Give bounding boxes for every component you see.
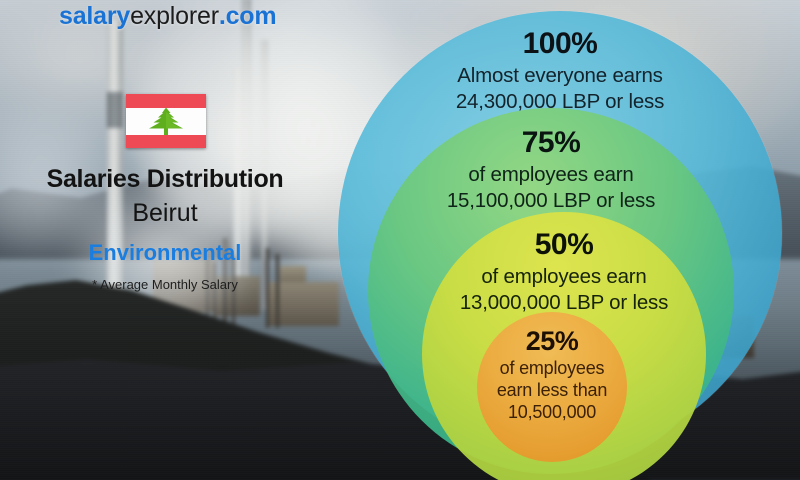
logo-text-domain: .com xyxy=(219,2,277,30)
percentile-line1-100: Almost everyone earns xyxy=(338,64,782,88)
lebanon-flag-icon xyxy=(126,94,206,148)
percentile-line1-75: of employees earn xyxy=(368,163,734,187)
percentile-label-100: 100% Almost everyone earns 24,300,000 LB… xyxy=(338,27,782,113)
percentile-line1-50: of employees earn xyxy=(422,265,706,289)
cedar-tree-icon xyxy=(145,107,187,136)
percentile-line2-75: 15,100,000 LBP or less xyxy=(368,189,734,213)
percentile-line3-25: 10,500,000 xyxy=(477,402,627,423)
heading-block: Salaries Distribution Beirut Environment… xyxy=(0,165,330,292)
percentile-label-25: 25% of employees earn less than 10,500,0… xyxy=(477,326,627,423)
flag-stripe-bottom xyxy=(126,135,206,149)
smokestack-band xyxy=(107,92,123,128)
percentile-label-75: 75% of employees earn 15,100,000 LBP or … xyxy=(368,126,734,212)
infographic-canvas: salaryexplorer.com Salaries Distribution… xyxy=(0,0,800,480)
flag-stripe-top xyxy=(126,94,206,108)
percentile-value-25: 25% xyxy=(477,326,627,357)
percentile-value-100: 100% xyxy=(338,27,782,62)
percentile-circle-25[interactable]: 25% of employees earn less than 10,500,0… xyxy=(477,312,627,462)
salary-note: * Average Monthly Salary xyxy=(0,278,330,292)
page-title: Salaries Distribution xyxy=(0,165,330,193)
percentile-line2-25: earn less than xyxy=(477,380,627,401)
logo-text-explorer: explorer xyxy=(130,2,219,30)
percentile-line2-50: 13,000,000 LBP or less xyxy=(422,291,706,315)
percentile-value-50: 50% xyxy=(422,228,706,263)
job-category-label: Environmental xyxy=(0,241,330,265)
logo-text-salary: salary xyxy=(59,2,130,30)
site-logo[interactable]: salaryexplorer.com xyxy=(59,4,276,29)
percentile-line1-25: of employees xyxy=(477,358,627,379)
percentile-label-50: 50% of employees earn 13,000,000 LBP or … xyxy=(422,228,706,314)
location-label: Beirut xyxy=(0,200,330,228)
percentile-value-75: 75% xyxy=(368,126,734,161)
